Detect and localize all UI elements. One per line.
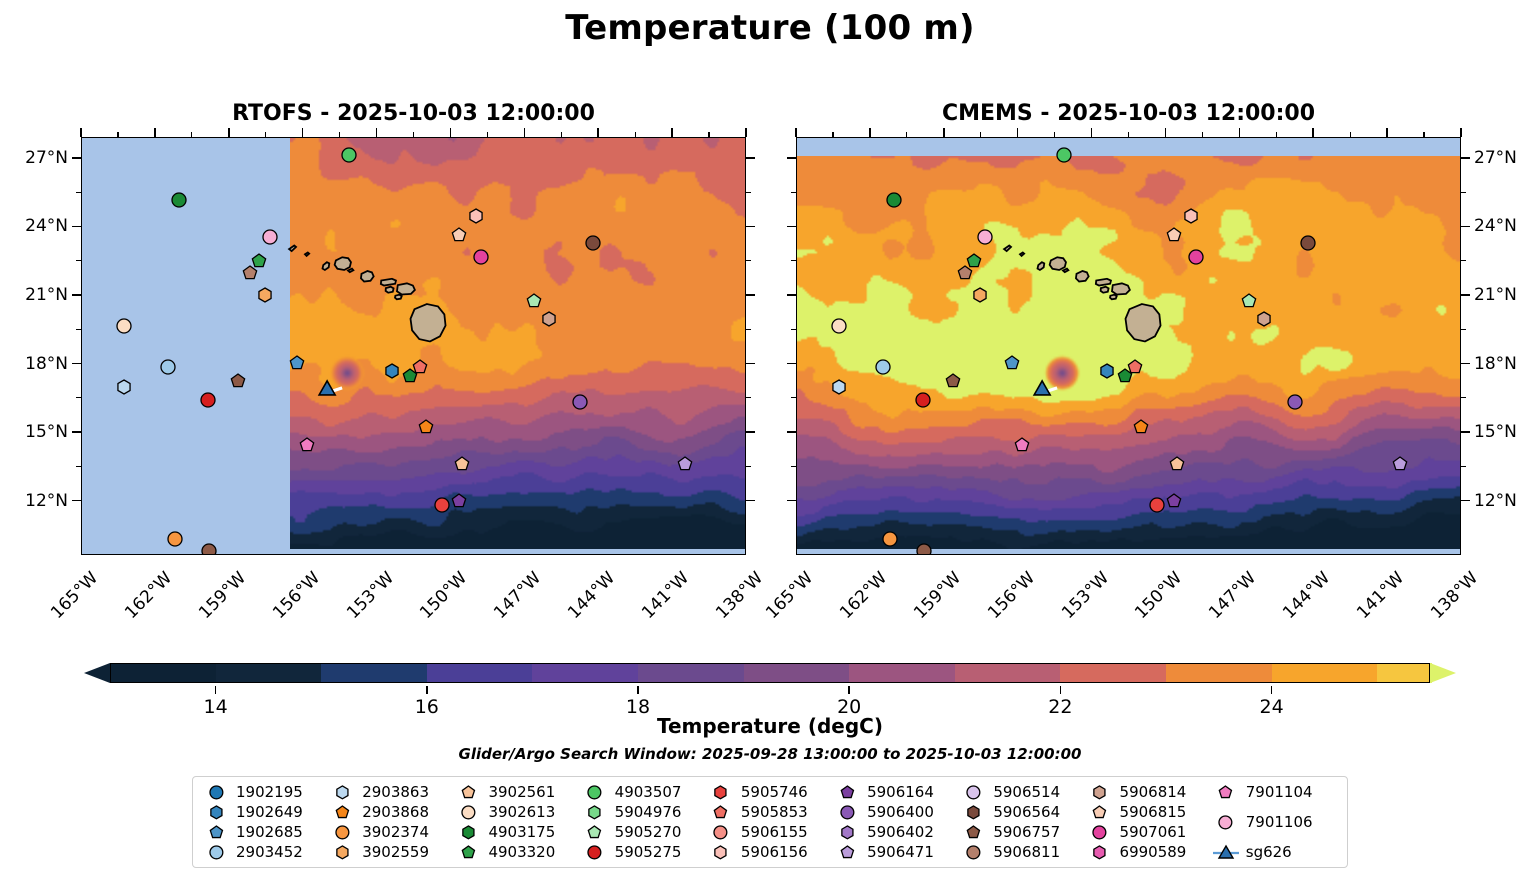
colorbar-segment [1272, 663, 1379, 683]
y-tick-major [787, 226, 796, 228]
x-tick-minor [1054, 555, 1055, 560]
legend-item-label: 5906811 [993, 843, 1060, 861]
legend-item-label: 5904976 [615, 803, 682, 821]
y-tick-major [72, 157, 81, 159]
x-tick-minor [1423, 132, 1424, 137]
legend-item-label: 5905270 [615, 823, 682, 841]
y-tick-major [787, 500, 796, 502]
map-marker-2903452[interactable] [874, 358, 892, 376]
y-tick-major [1461, 294, 1470, 296]
legend-marker-icon [1213, 814, 1239, 831]
map-marker-2903863[interactable] [830, 378, 848, 396]
y-tick-major [787, 431, 796, 433]
map-marker-5907061[interactable] [1187, 248, 1205, 266]
legend-item-label: 5906471 [867, 843, 934, 861]
x-tick-major [671, 128, 673, 137]
legend-item-5906402[interactable]: 5906402 [834, 822, 960, 842]
island-polygon [1063, 269, 1068, 273]
map-marker-5905746[interactable] [433, 496, 451, 514]
colorbar-tick [1060, 686, 1062, 694]
map-marker-5905853[interactable] [1126, 358, 1144, 376]
legend-marker-icon [1213, 784, 1239, 801]
map-marker-7901106[interactable] [976, 228, 994, 246]
x-tick-minor [191, 132, 192, 137]
legend-marker-icon [455, 784, 481, 801]
legend-marker-icon [203, 844, 229, 861]
legend-marker-icon [834, 824, 860, 841]
legend-item-4903175[interactable]: 4903175 [455, 822, 581, 842]
legend-item-3902559[interactable]: 3902559 [329, 842, 455, 862]
x-tick-major [1091, 555, 1093, 564]
legend-item-1902195[interactable]: 1902195 [203, 782, 329, 802]
x-tick-major [597, 555, 599, 564]
island-polygon [411, 304, 446, 341]
legend-item-4903320[interactable]: 4903320 [455, 842, 581, 862]
map-marker-3902561[interactable] [1168, 455, 1186, 473]
legend-item-7901104[interactable]: 7901104 [1213, 782, 1339, 803]
x-tick-minor [487, 555, 488, 560]
legend-item-label: 4903507 [615, 783, 682, 801]
y-tick-major [746, 431, 755, 433]
map-marker-5906164[interactable] [1165, 492, 1183, 510]
map-marker-5905275[interactable] [914, 391, 932, 409]
legend-column: 5905746590585359061555906156 [708, 782, 834, 862]
legend-marker-icon [582, 804, 608, 821]
map-axes-rtofs[interactable] [81, 137, 746, 555]
x-axis-label: 138°W [712, 568, 767, 623]
legend-marker-icon [455, 824, 481, 841]
x-tick-major [1460, 555, 1462, 564]
legend-column: 79011047901106sg626 [1213, 782, 1339, 862]
colorbar-segment [216, 663, 323, 683]
x-tick-minor [413, 132, 414, 137]
legend-item-label: 2903868 [362, 803, 429, 821]
x-axis-label: 138°W [1427, 568, 1482, 623]
legend-item-label: 2903452 [236, 843, 303, 861]
x-tick-major [795, 128, 797, 137]
map-marker-5906815[interactable] [450, 226, 468, 244]
legend-item-5906156[interactable]: 5906156 [708, 842, 834, 862]
map-marker-5905275[interactable] [199, 391, 217, 409]
x-tick-minor [1350, 555, 1351, 560]
x-tick-major [302, 128, 304, 137]
island-polygon [1112, 283, 1130, 294]
legend-item-5906811[interactable]: 5906811 [960, 842, 1086, 862]
panel-rtofs: RTOFS - 2025-10-03 12:00:00 165°W162°W15… [81, 137, 746, 555]
x-tick-major [450, 555, 452, 564]
colorbar-segment [1377, 663, 1431, 683]
map-marker-5906814[interactable] [1255, 310, 1273, 328]
x-axis-label: 165°W [47, 568, 102, 623]
legend-item-7901106[interactable]: 7901106 [1213, 812, 1339, 833]
legend-item-label: 3902613 [488, 803, 555, 821]
x-tick-minor [708, 132, 709, 137]
map-marker-5906156[interactable] [1182, 207, 1200, 225]
map-marker-5906471[interactable] [1391, 455, 1409, 473]
x-tick-major [597, 128, 599, 137]
colorbar-segment [532, 663, 639, 683]
y-axis-label: 21°N [25, 285, 68, 305]
legend-marker-icon [329, 804, 355, 821]
y-axis-label: 18°N [25, 354, 68, 374]
x-tick-major [1165, 128, 1167, 137]
legend-item-5905270[interactable]: 5905270 [582, 822, 708, 842]
colorbar-segment [110, 663, 217, 683]
legend-item-6990589[interactable]: 6990589 [1087, 842, 1213, 862]
x-tick-major [943, 555, 945, 564]
x-tick-major [1386, 555, 1388, 564]
map-marker-5906400[interactable] [571, 393, 589, 411]
x-tick-minor [980, 132, 981, 137]
map-marker-2903868[interactable] [1132, 418, 1150, 436]
legend-item-4903507[interactable]: 4903507 [582, 782, 708, 802]
colorbar-extend-high [1430, 663, 1456, 683]
x-axis-label: 165°W [762, 568, 817, 623]
y-tick-major [787, 294, 796, 296]
y-tick-major [1461, 226, 1470, 228]
y-tick-minor [791, 466, 796, 467]
map-marker-5906400[interactable] [1286, 393, 1304, 411]
island-polygon [323, 262, 330, 270]
y-axis-label: 27°N [25, 148, 68, 168]
map-marker-5906757[interactable] [229, 372, 247, 390]
x-axis-label: 144°W [1279, 568, 1334, 623]
colorbar-extend-low [84, 663, 110, 683]
map-marker-5906164[interactable] [450, 492, 468, 510]
colorbar-segment [849, 663, 956, 683]
y-tick-major [72, 294, 81, 296]
legend-marker-icon [960, 804, 986, 821]
x-tick-major [1386, 128, 1388, 137]
island-polygon [1126, 304, 1161, 341]
legend-item-label: 5906164 [867, 783, 934, 801]
map-marker-7901106[interactable] [261, 228, 279, 246]
legend-item-label: 5906155 [741, 823, 808, 841]
y-axis-label: 21°N [1474, 285, 1517, 305]
y-axis-label: 18°N [1474, 354, 1517, 374]
map-marker-3902559[interactable] [256, 286, 274, 304]
map-marker-4903507[interactable] [1055, 146, 1073, 164]
x-tick-major [154, 555, 156, 564]
legend-column: 3902561390261349031754903320 [455, 782, 581, 862]
y-tick-minor [1461, 260, 1466, 261]
legend-marker-icon [834, 804, 860, 821]
legend-marker-icon [834, 784, 860, 801]
map-marker-5905746[interactable] [1148, 496, 1166, 514]
y-tick-major [1461, 157, 1470, 159]
legend-item-label: 2903863 [362, 783, 429, 801]
map-marker-2903863[interactable] [115, 378, 133, 396]
island-polygon [305, 252, 309, 255]
x-tick-major [745, 128, 747, 137]
map-marker-3902374[interactable] [166, 530, 184, 548]
legend-marker-icon [582, 784, 608, 801]
y-tick-major [746, 500, 755, 502]
x-tick-major [795, 555, 797, 564]
x-tick-minor [339, 555, 340, 560]
legend-marker-icon [708, 784, 734, 801]
y-tick-minor [76, 329, 81, 330]
x-tick-major [1017, 128, 1019, 137]
x-tick-minor [832, 555, 833, 560]
legend-item-sg626[interactable]: sg626 [1213, 842, 1339, 863]
x-tick-minor [635, 132, 636, 137]
legend-item-1902685[interactable]: 1902685 [203, 822, 329, 842]
map-marker-1902649[interactable] [383, 362, 401, 380]
legend-item-2903452[interactable]: 2903452 [203, 842, 329, 862]
colorbar-tick [215, 686, 217, 694]
y-tick-major [1461, 431, 1470, 433]
x-tick-major [869, 128, 871, 137]
legend-item-label: 7901106 [1246, 813, 1313, 831]
x-axis-label: 150°W [1132, 568, 1187, 623]
legend-item-5906164[interactable]: 5906164 [834, 782, 960, 802]
legend-item-5907061[interactable]: 5907061 [1087, 822, 1213, 842]
x-tick-minor [561, 132, 562, 137]
x-tick-major [1312, 555, 1314, 564]
legend-item-5905275[interactable]: 5905275 [582, 842, 708, 862]
colorbar-segment [1060, 663, 1167, 683]
figure-title: Temperature (100 m) [0, 8, 1540, 48]
map-marker-5906811[interactable] [956, 264, 974, 282]
legend-item-5906814[interactable]: 5906814 [1087, 782, 1213, 802]
map-marker-sg626[interactable] [1031, 378, 1065, 400]
x-axis-label: 150°W [417, 568, 472, 623]
legend-item-5906564[interactable]: 5906564 [960, 802, 1086, 822]
legend-item-label: 5905275 [615, 843, 682, 861]
map-marker-3902559[interactable] [971, 286, 989, 304]
map-marker-3902561[interactable] [453, 455, 471, 473]
legend-item-5906400[interactable]: 5906400 [834, 802, 960, 822]
x-tick-major [1165, 555, 1167, 564]
map-marker-4903175[interactable] [885, 191, 903, 209]
x-axis-label: 147°W [490, 568, 545, 623]
map-marker-5906814[interactable] [540, 310, 558, 328]
x-axis-label: 162°W [836, 568, 891, 623]
legend-item-label: 5906156 [741, 843, 808, 861]
x-tick-major [1017, 555, 1019, 564]
y-tick-major [746, 294, 755, 296]
x-tick-minor [487, 132, 488, 137]
x-tick-minor [117, 555, 118, 560]
map-marker-5906564[interactable] [584, 234, 602, 252]
map-marker-7901104[interactable] [1013, 436, 1031, 454]
map-marker-5906471[interactable] [676, 455, 694, 473]
map-marker-1902685[interactable] [288, 354, 306, 372]
legend-marker-icon [1087, 844, 1113, 861]
y-axis-label: 24°N [25, 216, 68, 236]
map-marker-5906815[interactable] [1165, 226, 1183, 244]
y-tick-minor [76, 260, 81, 261]
colorbar-segment [638, 663, 745, 683]
x-tick-major [671, 555, 673, 564]
map-marker-5906514[interactable] [915, 542, 933, 555]
legend-item-5906155[interactable]: 5906155 [708, 822, 834, 842]
legend-marker-icon [708, 824, 734, 841]
legend-item-label: 1902195 [236, 783, 303, 801]
map-marker-1902685[interactable] [1003, 354, 1021, 372]
legend-item-5905853[interactable]: 5905853 [708, 802, 834, 822]
x-tick-major [1312, 128, 1314, 137]
x-tick-minor [1202, 132, 1203, 137]
island-polygon [335, 257, 351, 270]
map-marker-2903452[interactable] [159, 358, 177, 376]
x-axis-label: 162°W [121, 568, 176, 623]
y-axis-label: 15°N [25, 422, 68, 442]
map-marker-5905853[interactable] [411, 358, 429, 376]
panel-title-rtofs: RTOFS - 2025-10-03 12:00:00 [81, 101, 746, 126]
island-polygon [1110, 295, 1117, 300]
map-marker-5906757[interactable] [944, 372, 962, 390]
map-marker-5906156[interactable] [467, 207, 485, 225]
y-tick-major [72, 363, 81, 365]
x-tick-minor [1202, 555, 1203, 560]
y-tick-major [746, 226, 755, 228]
colorbar-tick [848, 686, 850, 694]
y-axis-label: 15°N [1474, 422, 1517, 442]
x-tick-minor [191, 555, 192, 560]
x-tick-minor [708, 555, 709, 560]
x-tick-major [450, 128, 452, 137]
legend-item-3902374[interactable]: 3902374 [329, 822, 455, 842]
legend-item-label: 5906814 [1120, 783, 1187, 801]
legend-item-label: 5906564 [993, 803, 1060, 821]
x-tick-major [1239, 555, 1241, 564]
y-axis-label: 24°N [1474, 216, 1517, 236]
legend-marker-icon [1087, 824, 1113, 841]
legend-column: 2903863290386839023743902559 [329, 782, 455, 862]
legend-item-label: 3902374 [362, 823, 429, 841]
x-tick-major [80, 128, 82, 137]
x-tick-major [154, 128, 156, 137]
legend-column: 4903507590497659052705905275 [582, 782, 708, 862]
legend-column: 5906814590681559070616990589 [1087, 782, 1213, 862]
legend-marker-icon [203, 804, 229, 821]
legend-item-label: 6990589 [1120, 843, 1187, 861]
colorbar-label: Temperature (degC) [0, 714, 1540, 738]
y-tick-minor [791, 397, 796, 398]
x-tick-major [1091, 128, 1093, 137]
x-tick-minor [1350, 132, 1351, 137]
map-marker-5906811[interactable] [241, 264, 259, 282]
legend-item-5906815[interactable]: 5906815 [1087, 802, 1213, 822]
map-marker-sg626[interactable] [316, 378, 350, 400]
map-marker-5906564[interactable] [1299, 234, 1317, 252]
map-marker-5905270[interactable] [1240, 292, 1258, 310]
legend-item-5904976[interactable]: 5904976 [582, 802, 708, 822]
island-polygon [1101, 287, 1109, 293]
y-tick-minor [76, 192, 81, 193]
island-polygon [1004, 246, 1011, 252]
legend-item-label: 1902685 [236, 823, 303, 841]
map-marker-5907061[interactable] [472, 248, 490, 266]
platform-legend: 1902195190264919026852903452290386329038… [192, 776, 1348, 868]
map-marker-3902613[interactable] [830, 317, 848, 335]
y-tick-major [72, 431, 81, 433]
x-axis-label: 144°W [564, 568, 619, 623]
legend-item-label: 5906757 [993, 823, 1060, 841]
legend-item-1902649[interactable]: 1902649 [203, 802, 329, 822]
legend-marker-icon [582, 824, 608, 841]
legend-item-5906514[interactable]: 5906514 [960, 782, 1086, 802]
y-tick-minor [746, 397, 751, 398]
x-tick-minor [117, 132, 118, 137]
map-marker-5905270[interactable] [525, 292, 543, 310]
x-tick-major [745, 555, 747, 564]
legend-marker-icon [960, 844, 986, 861]
x-tick-minor [980, 555, 981, 560]
x-tick-minor [1276, 132, 1277, 137]
legend-marker-icon [582, 844, 608, 861]
x-axis-label: 153°W [1058, 568, 1113, 623]
map-marker-2903868[interactable] [417, 418, 435, 436]
map-marker-7901104[interactable] [298, 436, 316, 454]
y-tick-major [787, 363, 796, 365]
island-polygon [1076, 271, 1089, 282]
legend-item-label: 3902561 [488, 783, 555, 801]
legend-item-5906757[interactable]: 5906757 [960, 822, 1086, 842]
y-tick-minor [746, 260, 751, 261]
legend-item-5906471[interactable]: 5906471 [834, 842, 960, 862]
legend-item-label: 5906402 [867, 823, 934, 841]
y-tick-major [746, 363, 755, 365]
y-tick-major [787, 157, 796, 159]
legend-item-label: 5906815 [1120, 803, 1187, 821]
legend-item-3902613[interactable]: 3902613 [455, 802, 581, 822]
legend-item-label: 5905746 [741, 783, 808, 801]
map-axes-cmems[interactable] [796, 137, 1461, 555]
map-marker-3902613[interactable] [115, 317, 133, 335]
x-tick-minor [635, 555, 636, 560]
x-tick-major [1460, 128, 1462, 137]
legend-item-label: sg626 [1246, 843, 1292, 861]
x-tick-major [376, 555, 378, 564]
legend-item-3902561[interactable]: 3902561 [455, 782, 581, 802]
y-axis-label: 27°N [1474, 148, 1517, 168]
x-tick-major [869, 555, 871, 564]
legend-marker-icon [203, 824, 229, 841]
x-tick-minor [1128, 132, 1129, 137]
legend-item-label: 5906514 [993, 783, 1060, 801]
legend-marker-icon [834, 844, 860, 861]
island-polygon [386, 287, 394, 293]
x-tick-major [302, 555, 304, 564]
y-axis-label: 12°N [1474, 491, 1517, 511]
legend-item-2903863[interactable]: 2903863 [329, 782, 455, 802]
x-axis-label: 153°W [343, 568, 398, 623]
x-tick-major [376, 128, 378, 137]
legend-item-2903868[interactable]: 2903868 [329, 802, 455, 822]
x-tick-minor [906, 555, 907, 560]
island-polygon [1050, 257, 1066, 270]
x-axis-label: 141°W [638, 568, 693, 623]
search-window-note: Glider/Argo Search Window: 2025-09-28 13… [0, 745, 1540, 763]
legend-item-label: 5907061 [1120, 823, 1187, 841]
map-marker-4903507[interactable] [340, 146, 358, 164]
map-marker-4903175[interactable] [170, 191, 188, 209]
colorbar-tick [637, 686, 639, 694]
legend-column: 5906164590640059064025906471 [834, 782, 960, 862]
colorbar-segment [955, 663, 1062, 683]
map-marker-1902649[interactable] [1098, 362, 1116, 380]
y-tick-major [72, 226, 81, 228]
legend-item-5905746[interactable]: 5905746 [708, 782, 834, 802]
island-polygon [381, 279, 396, 286]
map-marker-3902374[interactable] [881, 530, 899, 548]
map-marker-5906514[interactable] [200, 542, 218, 555]
island-polygon [289, 246, 296, 252]
colorbar-tick [426, 686, 428, 694]
